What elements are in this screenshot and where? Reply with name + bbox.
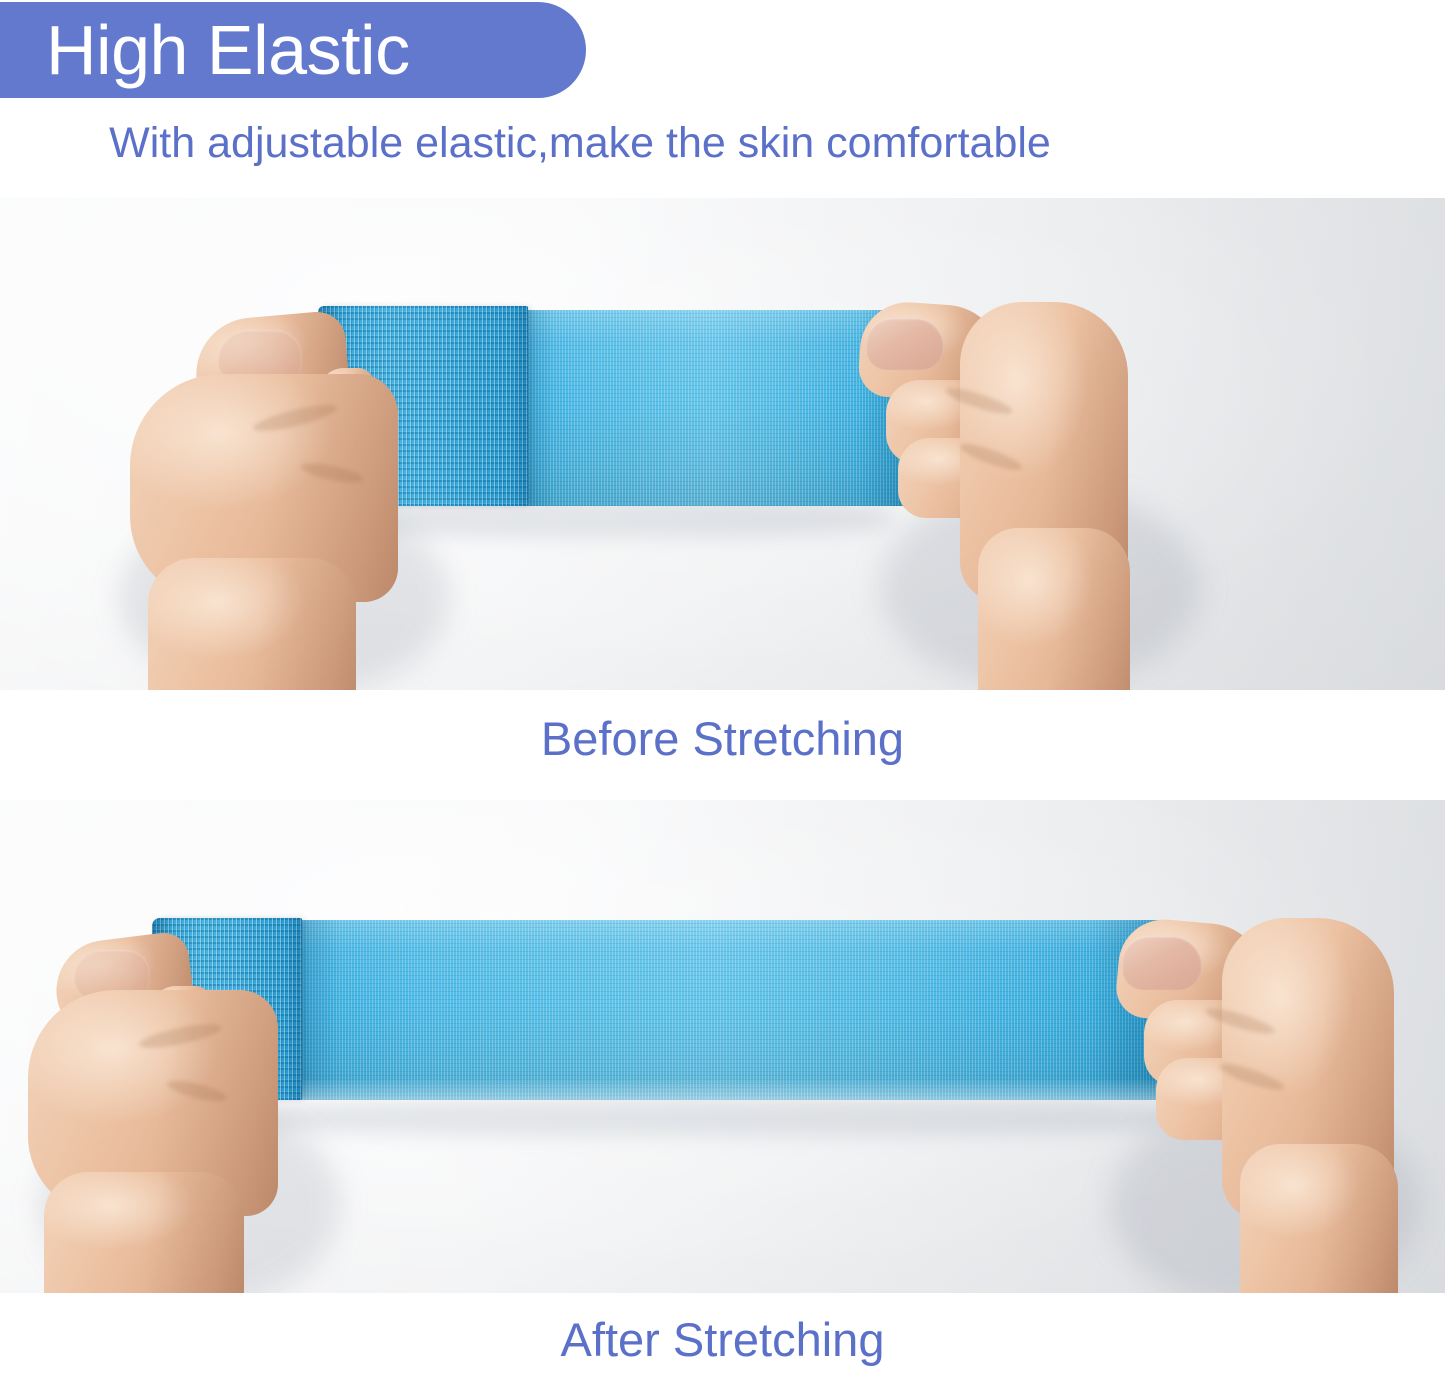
right-wrist — [1240, 1144, 1398, 1293]
high-elastic-badge: High Elastic — [0, 2, 586, 98]
bandage-weave-texture — [300, 920, 1160, 1100]
right-wrist — [978, 528, 1130, 690]
product-feature-image: High Elastic With adjustable elastic,mak… — [0, 0, 1445, 1379]
left-wrist — [148, 558, 356, 690]
bandage-strip — [520, 310, 920, 506]
roll-edge-shadow — [286, 918, 302, 1100]
right-thumb-nail — [866, 318, 944, 370]
left-wrist — [44, 1172, 244, 1293]
bandage-drop-shadow — [200, 1100, 1200, 1136]
subtitle-text: With adjustable elastic,make the skin co… — [0, 120, 1160, 167]
caption-after-stretching: After Stretching — [0, 1316, 1445, 1363]
caption-before-stretching: Before Stretching — [0, 715, 1445, 762]
roll-edge-shadow — [512, 306, 528, 506]
photo-panel-after-stretching — [0, 800, 1445, 1293]
badge-label: High Elastic — [0, 15, 410, 85]
photo-panel-before-stretching — [0, 198, 1445, 690]
right-thumb-nail — [1122, 936, 1202, 990]
bandage-strip-stretched — [300, 920, 1160, 1100]
